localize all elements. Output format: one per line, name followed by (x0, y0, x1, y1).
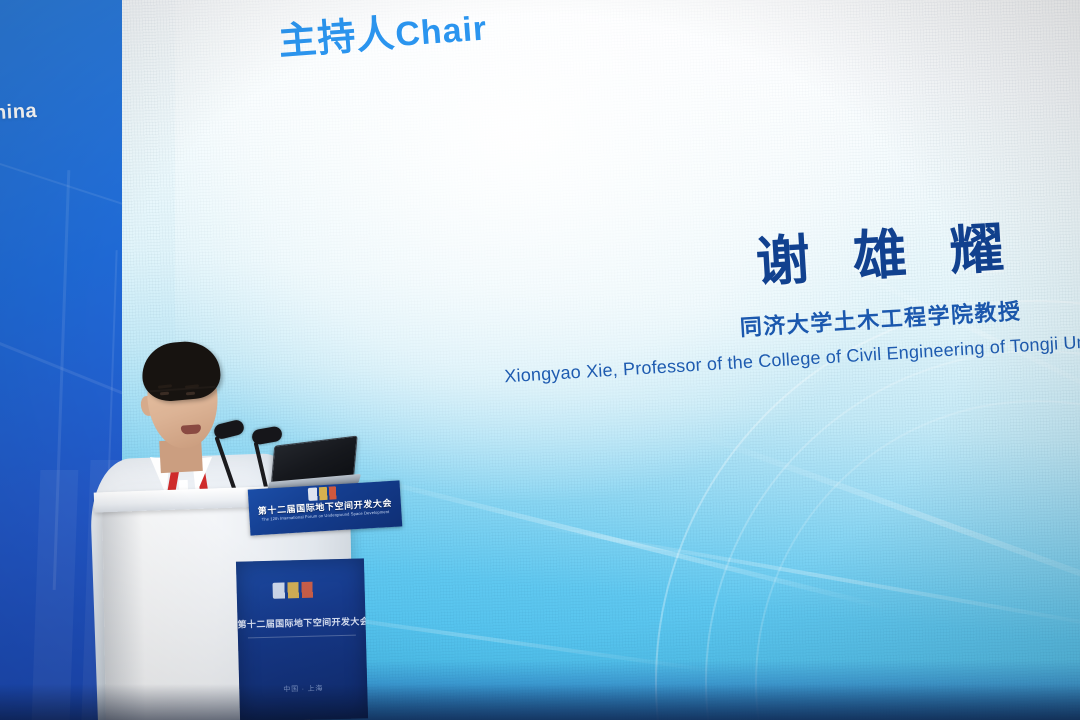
podium-panel-sub: 中国 · 上海 (239, 682, 367, 695)
podium-sign: 第十二届国际地下空间开发大会 The 12th International Fo… (248, 480, 403, 535)
podium-panel-cn: 第十二届国际地下空间开发大会 (237, 614, 365, 630)
podium-shadow (102, 502, 146, 720)
slide-heading-cn: 主持人 (277, 13, 397, 63)
slide-heading-en: Chair (394, 9, 488, 54)
panel-divider (248, 635, 356, 639)
banner-text: hina (0, 100, 38, 125)
banner-streak (0, 150, 122, 232)
podium-front-panel: 第十二届国际地下空间开发大会 中国 · 上海 (236, 558, 368, 720)
conference-photo: hina 主持人Chair 谢 雄 耀 同济大学土木工程学院教授 Xiongya… (0, 0, 1080, 720)
banner-block (32, 470, 79, 720)
conference-logo-icon (272, 582, 316, 599)
presenter-eye (186, 392, 195, 396)
presenter-eye (160, 392, 169, 396)
speaker-info-block: 谢 雄 耀 同济大学土木工程学院教授 Xiongyao Xie, Profess… (496, 203, 1024, 388)
